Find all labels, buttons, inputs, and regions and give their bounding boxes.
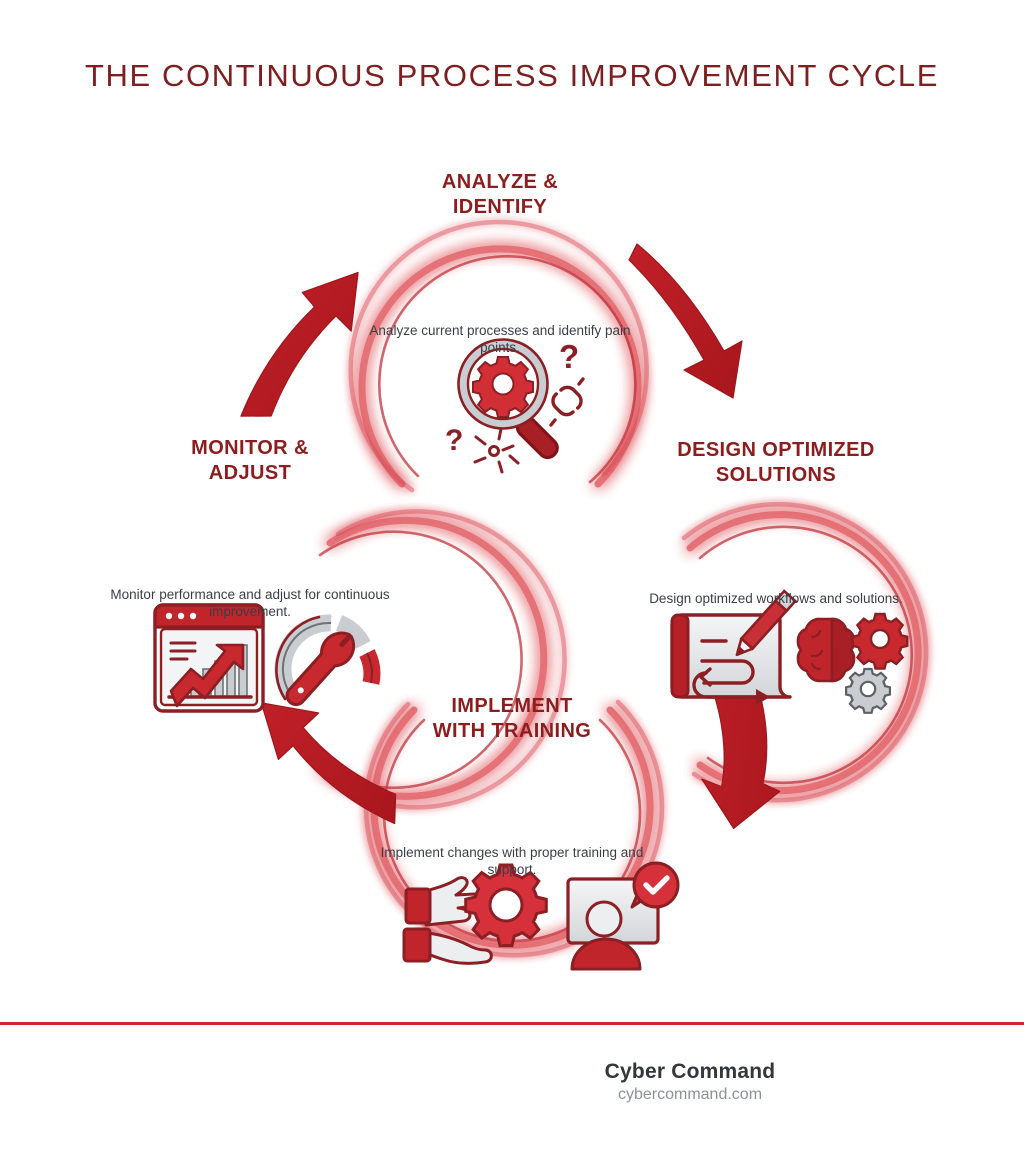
node-title: MONITOR & ADJUST bbox=[100, 436, 400, 486]
node-analyze-identify[interactable]: ANALYZE & IDENTIFY Analyze current proce… bbox=[350, 170, 650, 356]
chart-window-gauge-wrench-icon bbox=[155, 605, 372, 712]
node-description: Design optimized workflows and solutions… bbox=[626, 590, 926, 607]
footer: Cyber Command cybercommand.com bbox=[480, 1060, 900, 1104]
magnifier-gear-icon: ? ? bbox=[445, 338, 583, 472]
node-description: Analyze current processes and identify p… bbox=[350, 322, 650, 356]
node-implement-with-training[interactable]: IMPLEMENT WITH TRAINING Implement change… bbox=[362, 694, 662, 878]
cycle-diagram: ? ? bbox=[0, 108, 1024, 1008]
brand-url: cybercommand.com bbox=[480, 1086, 900, 1104]
page-title: THE CONTINUOUS PROCESS IMPROVEMENT CYCLE bbox=[0, 58, 1024, 94]
node-description: Monitor performance and adjust for conti… bbox=[100, 586, 400, 620]
node-monitor-adjust[interactable]: MONITOR & ADJUST Monitor performance and… bbox=[100, 436, 400, 620]
node-title: IMPLEMENT WITH TRAINING bbox=[362, 694, 662, 744]
svg-text:?: ? bbox=[445, 424, 463, 457]
node-description: Implement changes with proper training a… bbox=[362, 844, 662, 878]
footer-divider bbox=[0, 1022, 1024, 1025]
node-title: ANALYZE & IDENTIFY bbox=[350, 170, 650, 220]
node-design-optimized-solutions[interactable]: DESIGN OPTIMIZED SOLUTIONS Design optimi… bbox=[626, 438, 926, 607]
brand-name: Cyber Command bbox=[480, 1060, 900, 1084]
node-title: DESIGN OPTIMIZED SOLUTIONS bbox=[626, 438, 926, 488]
blueprint-brain-gears-icon bbox=[672, 591, 907, 713]
infographic-page: THE CONTINUOUS PROCESS IMPROVEMENT CYCLE bbox=[0, 0, 1024, 1154]
